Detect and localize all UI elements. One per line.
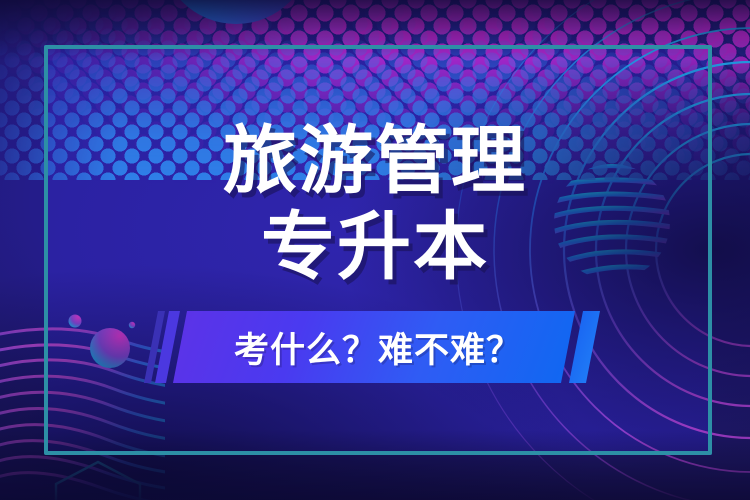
headline-group: 旅游管理 专升本: [0, 124, 750, 284]
headline-line-1: 旅游管理: [0, 124, 750, 198]
subtitle-text: 考什么？难不难？: [0, 311, 750, 383]
headline-line-2: 专升本: [0, 210, 750, 284]
poster-canvas: 旅游管理 专升本 考什么？难不难？: [0, 0, 750, 500]
subtitle-ribbon: 考什么？难不难？: [0, 311, 750, 383]
